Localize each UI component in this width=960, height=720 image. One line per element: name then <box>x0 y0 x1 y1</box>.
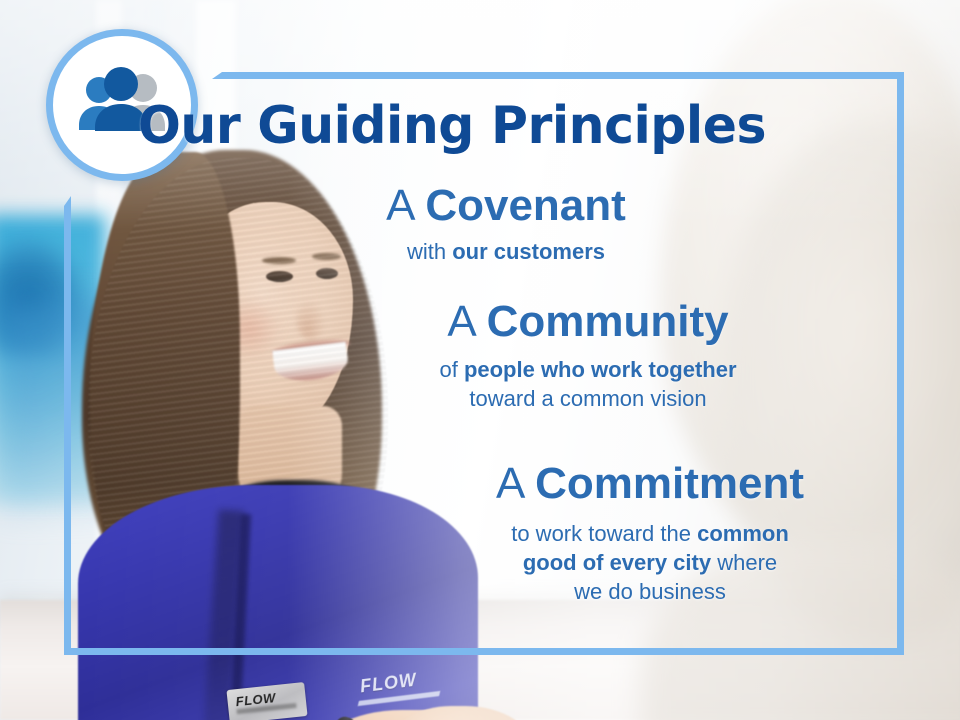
principle-article: A <box>496 459 535 508</box>
subtext-segment: we do business <box>574 579 726 604</box>
principle-subtext-line: good of every city where <box>430 548 870 577</box>
principle-word: Commitment <box>535 459 804 508</box>
principle-subtext-line: of people who work together <box>378 355 798 384</box>
principle-article: A <box>386 181 425 230</box>
subtext-segment-bold: common <box>697 521 789 546</box>
principle-subtext: with our customers <box>336 237 676 266</box>
principle-block-community: A Community of people who work together … <box>378 300 798 413</box>
subtext-segment: toward a common vision <box>469 386 706 411</box>
principle-heading: A Covenant <box>336 184 676 229</box>
subtext-segment-bold: good of every city <box>523 550 711 575</box>
principle-subtext-line: with our customers <box>336 237 676 266</box>
poster-text-content: Our Guiding Principles A Covenant with o… <box>0 0 960 720</box>
principle-subtext-line: we do business <box>430 577 870 606</box>
page-title: Our Guiding Principles <box>14 96 891 156</box>
principle-heading: A Community <box>378 300 798 345</box>
subtext-segment: of <box>439 357 463 382</box>
principle-block-covenant: A Covenant with our customers <box>336 184 676 266</box>
principle-word: Covenant <box>425 181 625 230</box>
subtext-segment: where <box>711 550 777 575</box>
principle-heading: A Commitment <box>430 462 870 507</box>
principle-subtext-line: to work toward the common <box>430 519 870 548</box>
guiding-principles-poster: FLOW FLOW <box>0 0 960 720</box>
subtext-segment-bold: our customers <box>452 239 605 264</box>
principle-article: A <box>447 297 486 346</box>
principle-subtext-line: toward a common vision <box>378 384 798 413</box>
principle-word: Community <box>487 297 729 346</box>
subtext-segment-bold: people who work together <box>464 357 737 382</box>
principle-block-commitment: A Commitment to work toward the common g… <box>430 462 870 606</box>
subtext-segment: to work toward the <box>511 521 697 546</box>
principle-subtext: to work toward the common good of every … <box>430 519 870 606</box>
principle-subtext: of people who work together toward a com… <box>378 355 798 413</box>
subtext-segment: with <box>407 239 452 264</box>
